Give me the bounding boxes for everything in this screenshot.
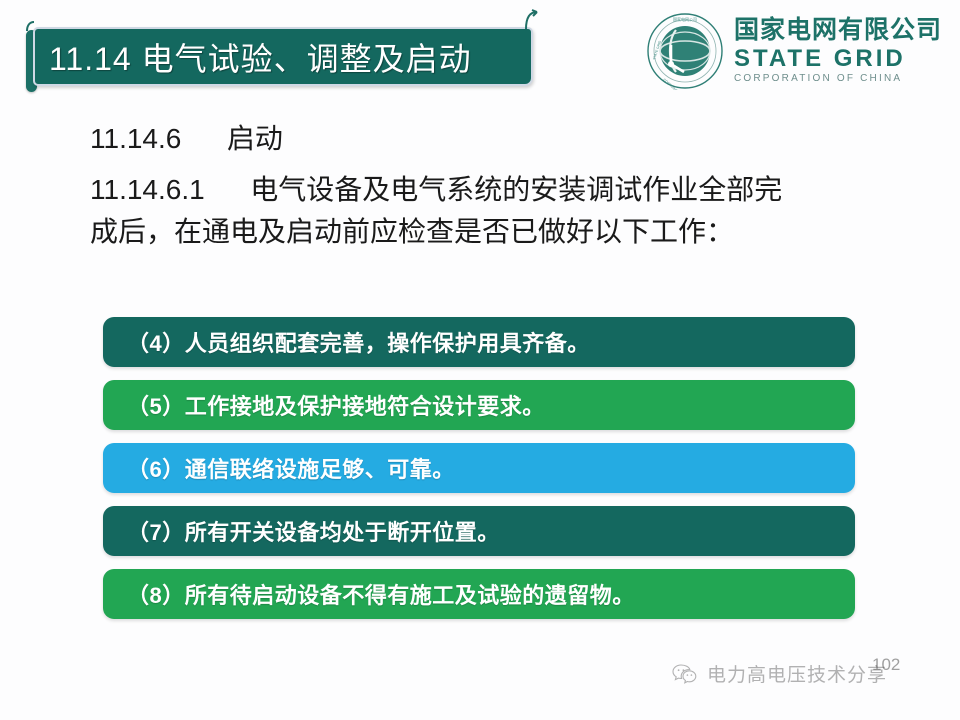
- wechat-icon: [672, 663, 698, 685]
- list-item-label: （5）工作接地及保护接地符合设计要求。: [103, 389, 545, 421]
- slide-title-area: 11.14 电气试验、调整及启动: [0, 0, 600, 105]
- logo-subtitle: CORPORATION OF CHINA: [734, 74, 942, 84]
- list-item: （4）人员组织配套完善，操作保护用具齐备。: [103, 317, 855, 367]
- list-item: （6）通信联络设施足够、可靠。: [103, 443, 855, 493]
- paragraph-text-first: 电气设备及电气系统的安装调试作业全部完: [250, 174, 782, 205]
- paragraph-number: 11.14.6.1: [90, 174, 205, 205]
- logo-chinese-name: 国家电网有限公司: [734, 18, 942, 43]
- list-item-label: （8）所有待启动设备不得有施工及试验的遗留物。: [103, 578, 635, 610]
- slide-body-text: 11.14.6 启动 11.14.6.1 电气设备及电气系统的安装调试作业全部完…: [90, 118, 890, 252]
- list-item: （5）工作接地及保护接地符合设计要求。: [103, 380, 855, 430]
- list-item: （8）所有待启动设备不得有施工及试验的遗留物。: [103, 569, 855, 619]
- svg-text:国家电网公司: 国家电网公司: [673, 16, 697, 22]
- title-decor-right-tick: [522, 9, 542, 31]
- logo-english-name: STATE GRID: [734, 47, 942, 71]
- list-item-label: （4）人员组织配套完善，操作保护用具齐备。: [103, 326, 590, 358]
- page-number: 102: [872, 655, 900, 675]
- section-heading-text: 启动: [227, 123, 283, 154]
- checklist-bars: （4）人员组织配套完善，操作保护用具齐备。 （5）工作接地及保护接地符合设计要求…: [103, 317, 855, 632]
- paragraph-line-2: 成后，在通电及启动前应检查是否已做好以下工作：: [90, 211, 890, 252]
- page-title: 11.14 电气试验、调整及启动: [35, 34, 472, 80]
- list-item-label: （6）通信联络设施足够、可靠。: [103, 452, 455, 484]
- logo-wordmark: 国家电网有限公司 STATE GRID CORPORATION OF CHINA: [734, 18, 942, 84]
- list-item-label: （7）所有开关设备均处于断开位置。: [103, 515, 500, 547]
- state-grid-logo: 国家电网公司 STATE GRID CORPORATION OF CHINA 国…: [646, 8, 942, 94]
- section-heading: 11.14.6 启动: [90, 118, 890, 159]
- paragraph-line-1: 11.14.6.1 电气设备及电气系统的安装调试作业全部完: [90, 169, 890, 210]
- paragraph-text-second: 成后，在通电及启动前应检查是否已做好以下工作：: [90, 216, 734, 247]
- state-grid-globe-emblem-icon: 国家电网公司 STATE GRID CORPORATION OF CHINA: [646, 12, 724, 90]
- footer-watermark: 电力高电压技术分享: [672, 660, 887, 687]
- section-heading-number: 11.14.6: [90, 123, 181, 154]
- watermark-text: 电力高电压技术分享: [707, 660, 887, 687]
- list-item: （7）所有开关设备均处于断开位置。: [103, 506, 855, 556]
- slide-title-box: 11.14 电气试验、调整及启动: [33, 27, 533, 86]
